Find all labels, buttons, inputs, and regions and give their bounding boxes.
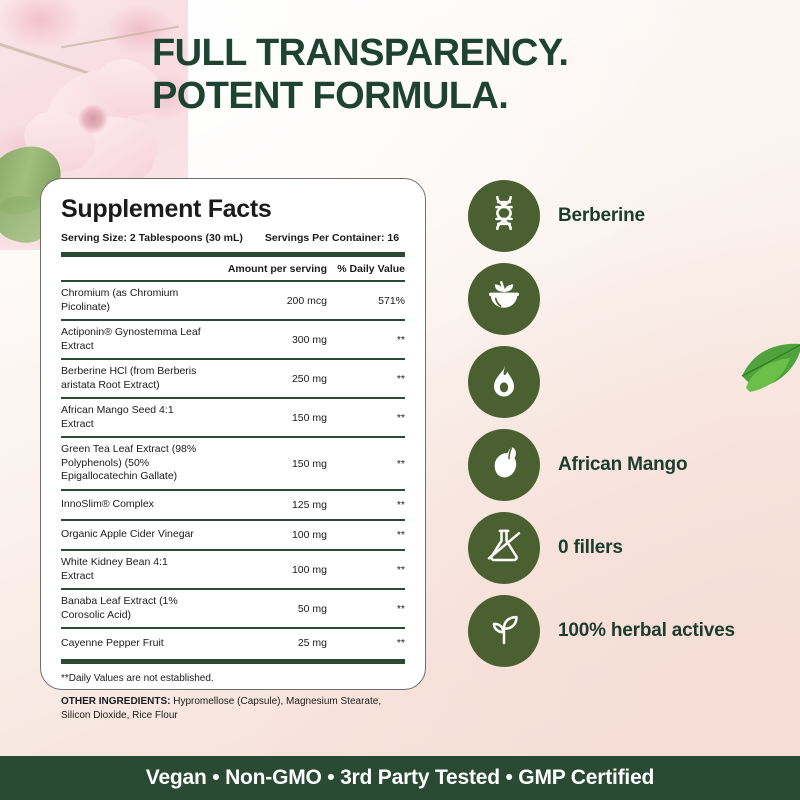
headline-line-1: FULL TRANSPARENCY. [152, 32, 568, 74]
ingredient-amount: 100 mg [209, 564, 327, 576]
certification-banner-text: Vegan • Non-GMO • 3rd Party Tested • GMP… [146, 766, 654, 790]
feature-icon-badge [468, 263, 540, 335]
feature-icon-badge [468, 180, 540, 252]
ingredient-daily-value: ** [327, 637, 405, 649]
serving-info: Serving Size: 2 Tablespoons (30 mL) Serv… [61, 232, 405, 250]
ingredient-name: Banaba Leaf Extract (1% Corosolic Acid) [61, 595, 209, 622]
feature-label: African Mango [558, 454, 687, 476]
page-title: FULL TRANSPARENCY. POTENT FORMULA. [152, 32, 672, 117]
ingredient-name: White Kidney Bean 4:1 Extract [61, 556, 209, 583]
ingredient-amount: 125 mg [209, 499, 327, 511]
ingredient-daily-value: ** [327, 529, 405, 541]
feature-list: BerberineAfrican Mango0 fillers100% herb… [468, 178, 788, 676]
ingredient-name: Organic Apple Cider Vinegar [61, 528, 209, 541]
table-column-headers: Amount per serving % Daily Value [61, 257, 405, 280]
supplement-facts-card: Supplement Facts Serving Size: 2 Tablesp… [40, 178, 426, 690]
column-header-daily-value: % Daily Value [327, 263, 405, 275]
ingredient-name: Chromium (as Chromium Picolinate) [61, 287, 209, 314]
ingredient-daily-value: ** [327, 603, 405, 615]
feature-item-4: African Mango [468, 427, 788, 502]
servings-per-container: Servings Per Container: 16 [265, 232, 399, 244]
feature-label: 0 fillers [558, 537, 623, 559]
ingredient-daily-value: ** [327, 334, 405, 346]
table-row: Berberine HCl (from Berberis aristata Ro… [61, 360, 405, 397]
mango-icon [484, 442, 524, 487]
feature-label: 100% herbal actives [558, 620, 735, 642]
ingredient-amount: 150 mg [209, 458, 327, 470]
feature-icon-badge [468, 512, 540, 584]
ingredient-name: InnoSlim® Complex [61, 498, 209, 511]
feature-label: Berberine [558, 205, 645, 227]
table-row: White Kidney Bean 4:1 Extract100 mg** [61, 551, 405, 588]
table-row: Banaba Leaf Extract (1% Corosolic Acid)5… [61, 590, 405, 627]
column-header-amount: Amount per serving [209, 263, 327, 275]
table-row: Chromium (as Chromium Picolinate)200 mcg… [61, 282, 405, 319]
ingredient-amount: 25 mg [209, 637, 327, 649]
table-row: InnoSlim® Complex125 mg** [61, 491, 405, 519]
feature-item-2 [468, 261, 788, 336]
ingredient-daily-value: ** [327, 499, 405, 511]
table-row: Green Tea Leaf Extract (98% Polyphenols)… [61, 438, 405, 488]
supplement-facts-title: Supplement Facts [61, 195, 405, 224]
headline-line-2: POTENT FORMULA. [152, 75, 672, 118]
ingredient-name: Cayenne Pepper Fruit [61, 637, 209, 650]
feature-item-3 [468, 344, 788, 419]
ingredient-name: Berberine HCl (from Berberis aristata Ro… [61, 365, 209, 392]
ingredient-amount: 200 mcg [209, 295, 327, 307]
ingredient-amount: 100 mg [209, 529, 327, 541]
ingredient-amount: 300 mg [209, 334, 327, 346]
table-row: Actiponin® Gynostemma Leaf Extract300 mg… [61, 321, 405, 358]
ingredient-daily-value: ** [327, 564, 405, 576]
feature-item-5: 0 fillers [468, 510, 788, 585]
feature-icon-badge [468, 346, 540, 418]
sprout-icon [484, 608, 524, 653]
ingredient-table: Chromium (as Chromium Picolinate)200 mcg… [61, 282, 405, 657]
ingredient-daily-value: ** [327, 412, 405, 424]
feature-item-6: 100% herbal actives [468, 593, 788, 668]
background-canvas: FULL TRANSPARENCY. POTENT FORMULA. Suppl… [0, 0, 800, 800]
feature-icon-badge [468, 595, 540, 667]
ingredient-name: African Mango Seed 4:1 Extract [61, 404, 209, 431]
certification-banner: Vegan • Non-GMO • 3rd Party Tested • GMP… [0, 756, 800, 800]
mortar-pestle-icon [484, 276, 524, 321]
feature-item-1: Berberine [468, 178, 788, 253]
table-row: Organic Apple Cider Vinegar100 mg** [61, 521, 405, 549]
ingredient-amount: 250 mg [209, 373, 327, 385]
ingredient-amount: 150 mg [209, 412, 327, 424]
daily-value-footnote: **Daily Values are not established. [61, 664, 405, 686]
ingredient-name: Green Tea Leaf Extract (98% Polyphenols)… [61, 443, 209, 483]
table-row: Cayenne Pepper Fruit25 mg** [61, 629, 405, 657]
flower-stamen [78, 104, 108, 134]
serving-size: Serving Size: 2 Tablespoons (30 mL) [61, 232, 243, 244]
feature-icon-badge [468, 429, 540, 501]
other-ingredients: OTHER INGREDIENTS: Hypromellose (Capsule… [61, 686, 405, 723]
ingredient-amount: 50 mg [209, 603, 327, 615]
ingredient-daily-value: 571% [327, 295, 405, 307]
table-row: African Mango Seed 4:1 Extract150 mg** [61, 399, 405, 436]
flame-icon [484, 359, 524, 404]
ingredient-daily-value: ** [327, 458, 405, 470]
ingredient-name: Actiponin® Gynostemma Leaf Extract [61, 326, 209, 353]
other-ingredients-label: OTHER INGREDIENTS: [61, 696, 170, 707]
no-flask-icon [484, 525, 524, 570]
ingredient-daily-value: ** [327, 373, 405, 385]
dna-icon [484, 193, 524, 238]
